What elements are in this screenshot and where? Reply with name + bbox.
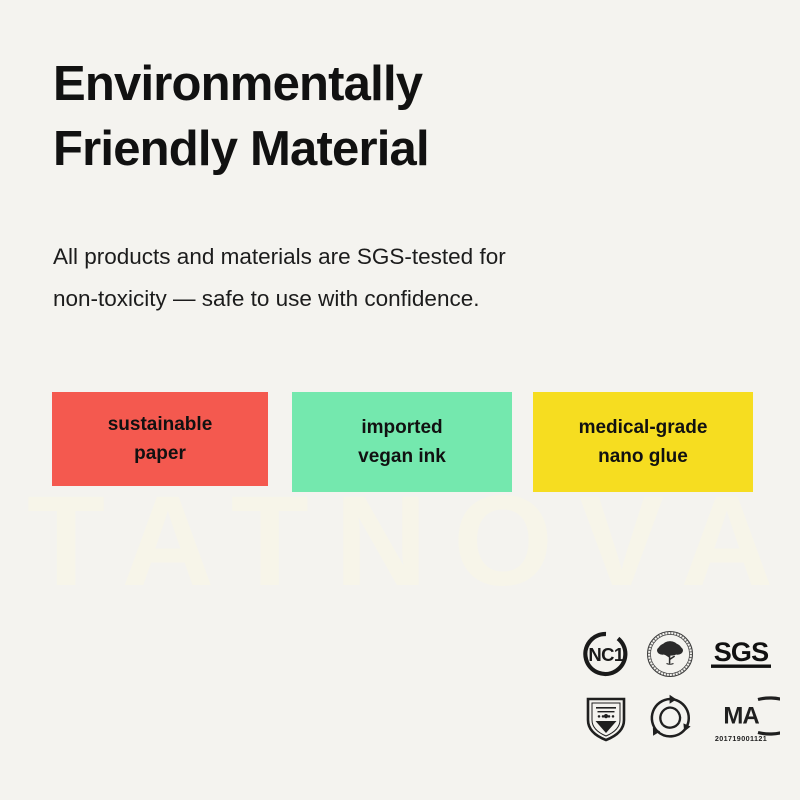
chip-label-line-2: vegan ink (358, 446, 446, 468)
material-chip-imported-vegan-ink: imported vegan ink (292, 392, 512, 492)
nc1-badge-icon: NC1 (574, 622, 638, 686)
sgs-logo-icon: SGS (702, 622, 780, 686)
page-subtitle: All products and materials are SGS-teste… (53, 236, 673, 319)
chip-label-line-2: nano glue (598, 446, 688, 468)
material-chip-list: sustainable paper imported vegan ink med… (52, 392, 752, 492)
recycling-arrows-icon (638, 686, 702, 750)
chip-label-line-1: sustainable (108, 414, 213, 436)
material-chip-medical-grade-nano-glue: medical-grade nano glue (533, 392, 753, 492)
svg-text:MA: MA (723, 703, 759, 730)
material-chip-sustainable-paper: sustainable paper (52, 392, 268, 486)
chip-label-line-1: medical-grade (579, 417, 708, 439)
cma-badge-icon: MA 201719001121 (702, 686, 780, 750)
certification-badge-group: NC1 SGS (574, 622, 780, 750)
page-subtitle-line-1: All products and materials are SGS-teste… (53, 236, 673, 278)
brand-watermark: TATNOVA (0, 478, 800, 606)
svg-text:NC1: NC1 (588, 644, 624, 665)
chip-label-line-2: paper (134, 443, 186, 465)
fsc-tree-seal-icon (638, 622, 702, 686)
page-title-line-2: Friendly Material (53, 117, 693, 182)
page-title-line-1: Environmentally (53, 52, 693, 117)
page-title: Environmentally Friendly Material (53, 52, 693, 182)
shield-badge-icon (574, 686, 638, 750)
cma-certificate-number: 201719001121 (715, 734, 767, 743)
chip-label-line-1: imported (361, 417, 442, 439)
svg-text:SGS: SGS (714, 637, 769, 667)
page-subtitle-line-2: non-toxicity — safe to use with confiden… (53, 278, 673, 320)
